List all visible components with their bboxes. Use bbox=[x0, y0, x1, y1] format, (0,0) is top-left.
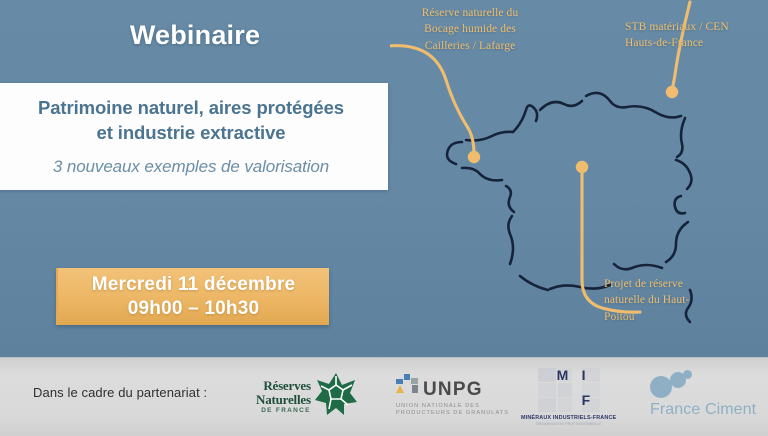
webinar-time: 09h00 – 10h30 bbox=[128, 298, 259, 320]
annotation-haut-poitou: Projet de réserve naturelle du Haut- Poi… bbox=[604, 276, 729, 325]
unpg-symbol-icon bbox=[396, 374, 418, 399]
mif-letter-m: M bbox=[557, 367, 569, 383]
logo-unpg: UNPG UNION NATIONALE DES PRODUCTEURS DE … bbox=[396, 374, 509, 418]
unpg-tagline: UNION NATIONALE DES PRODUCTEURS DE GRANU… bbox=[396, 403, 509, 418]
title-line-2: et industrie extractive bbox=[15, 121, 367, 146]
mif-grid-mark: M I F bbox=[538, 368, 600, 412]
rnf-wordmark: Réserves Naturelles DE FRANCE bbox=[256, 379, 311, 415]
webinar-slide: Webinaire Patrimoine naturel, aires prot… bbox=[0, 0, 768, 436]
mif-subtagline: ORGANISATION PROFESSIONNELLE bbox=[536, 422, 602, 426]
mif-cell bbox=[558, 383, 572, 397]
slide-stage: Webinaire Patrimoine naturel, aires prot… bbox=[0, 0, 768, 357]
logo-france-ciment: France Ciment bbox=[650, 370, 756, 419]
mif-letter-f: F bbox=[582, 392, 591, 408]
webinar-heading: Webinaire bbox=[0, 20, 390, 51]
annotation-line: Poitou bbox=[604, 309, 729, 325]
logo-reserves-naturelles-de-france: Réserves Naturelles DE FRANCE bbox=[256, 372, 358, 421]
annotation-line: Hauts-de-France bbox=[625, 35, 768, 51]
annotation-line: Cailleries / Lafarge bbox=[385, 38, 555, 54]
annotation-line: Réserve naturelle du bbox=[385, 5, 555, 21]
annotation-line: naturelle du Haut- bbox=[604, 292, 729, 308]
webinar-date: Mercredi 11 décembre bbox=[92, 274, 296, 296]
mif-cell bbox=[538, 398, 556, 412]
rnf-line-3: DE FRANCE bbox=[261, 408, 311, 415]
partnership-label: Dans le cadre du partenariat : bbox=[33, 385, 207, 400]
annotation-stb-cen: STB matériaux / CEN Hauts-de-France bbox=[625, 19, 768, 52]
unpg-tagline-line-1: UNION NATIONALE DES bbox=[396, 403, 509, 410]
date-time-badge: Mercredi 11 décembre 09h00 – 10h30 bbox=[56, 268, 329, 325]
dot-large bbox=[650, 376, 672, 398]
mif-cell bbox=[538, 368, 556, 382]
france-ciment-wordmark: France Ciment bbox=[650, 401, 756, 419]
logo-mif: M I F MINÉRAUX INDUSTRIELS-FRANCE ORGANI… bbox=[521, 368, 616, 426]
mif-cell bbox=[558, 398, 572, 412]
france-ciment-dots-icon bbox=[650, 370, 706, 400]
subtitle: 3 nouveaux exemples de valorisation bbox=[53, 157, 329, 177]
title-line-1: Patrimoine naturel, aires protégées bbox=[15, 96, 367, 121]
rnf-line-2: Naturelles bbox=[256, 393, 311, 406]
annotation-line: Bocage humide des bbox=[385, 21, 555, 37]
unpg-tagline-line-2: PRODUCTEURS DE GRANULATS bbox=[396, 410, 509, 417]
unpg-wordmark: UNPG bbox=[423, 381, 483, 399]
mif-tagline: MINÉRAUX INDUSTRIELS-FRANCE bbox=[521, 415, 616, 421]
title-card: Patrimoine naturel, aires protégées et i… bbox=[0, 83, 388, 190]
mif-letter-i: I bbox=[582, 367, 586, 383]
annotation-line: STB matériaux / CEN bbox=[625, 19, 768, 35]
green-star-icon bbox=[314, 372, 358, 421]
annotation-line: Projet de réserve bbox=[604, 276, 729, 292]
unpg-mark-row: UNPG bbox=[396, 374, 483, 399]
annotation-bocage-cailleries: Réserve naturelle du Bocage humide des C… bbox=[385, 5, 555, 54]
rnf-line-1: Réserves bbox=[263, 379, 311, 392]
title-block: Patrimoine naturel, aires protégées et i… bbox=[15, 96, 367, 146]
dot-small bbox=[683, 370, 692, 379]
mif-cell bbox=[538, 383, 556, 397]
